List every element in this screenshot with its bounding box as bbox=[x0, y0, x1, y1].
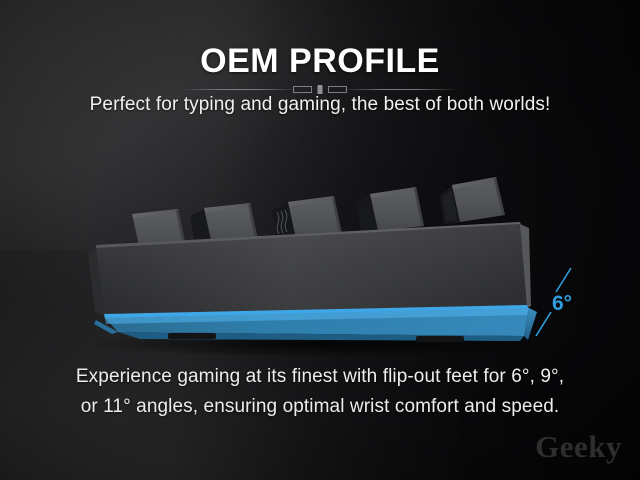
angle-indicator-line-upper bbox=[556, 268, 571, 292]
angle-indicator: 6° bbox=[536, 268, 572, 336]
keyboard-foot-left bbox=[168, 333, 216, 339]
promo-slide: OEM PROFILE Perfect for typing and gamin… bbox=[0, 0, 640, 480]
keycap bbox=[370, 187, 424, 231]
brand-watermark: Geeky bbox=[535, 431, 622, 462]
keycap bbox=[452, 177, 505, 222]
angle-indicator-line-lower bbox=[536, 312, 551, 336]
body-copy: Experience gaming at its finest with fli… bbox=[0, 362, 640, 422]
body-copy-line-2: or 11° angles, ensuring optimal wrist co… bbox=[0, 392, 640, 422]
keyboard-foot-right bbox=[416, 336, 464, 342]
angle-label: 6° bbox=[552, 292, 572, 315]
body-copy-line-1: Experience gaming at its finest with fli… bbox=[0, 362, 640, 392]
